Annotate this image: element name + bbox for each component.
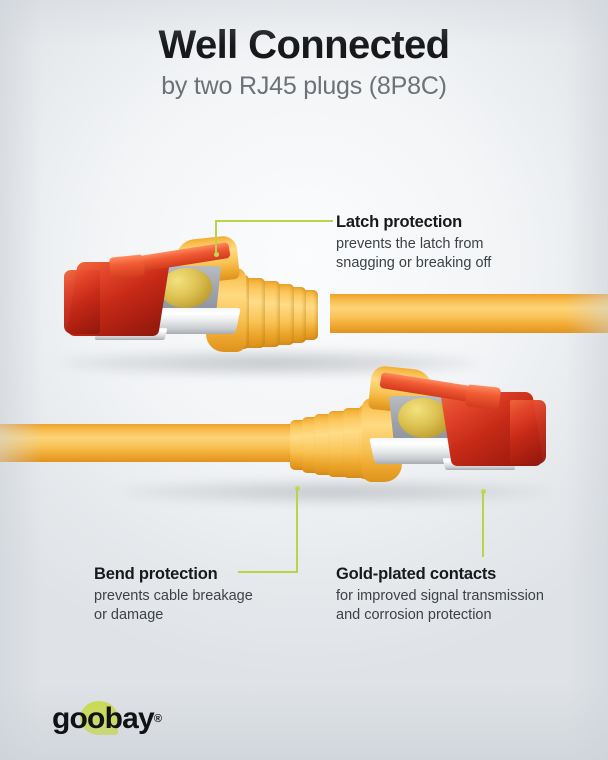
product-infographic: Well Connected by two RJ45 plugs (8P8C) (0, 0, 608, 760)
latch-base-top (109, 254, 145, 279)
callout-body-line-2: and corrosion protection (336, 606, 544, 625)
callout-body-line-1: prevents the latch from (336, 235, 491, 254)
connector-nose-top (64, 270, 100, 334)
callout-body-line-2: or damage (94, 606, 253, 625)
goobay-logo: goobay® (52, 703, 162, 737)
callout-body-line-1: for improved signal transmission (336, 587, 544, 606)
callout-title: Latch protection (336, 211, 491, 233)
bend-line-vertical (296, 488, 298, 572)
header: Well Connected by two RJ45 plugs (8P8C) (0, 22, 608, 102)
callout-latch-protection: Latch protection prevents the latch from… (336, 211, 491, 273)
callout-bend-protection: Bend protection prevents cable breakage … (94, 563, 253, 625)
page-subtitle: by two RJ45 plugs (8P8C) (0, 70, 608, 102)
latch-line-horizontal (215, 220, 333, 222)
product-image (0, 150, 608, 520)
latch-line-vertical (215, 221, 217, 255)
callout-title: Bend protection (94, 563, 253, 585)
latch-base-bottom (465, 384, 501, 409)
gold-line-vertical (482, 491, 484, 557)
cable-jacket-top (330, 294, 608, 333)
callout-title: Gold-plated contacts (336, 563, 544, 585)
callout-body-line-2: snagging or breaking off (336, 254, 491, 273)
page-title: Well Connected (0, 22, 608, 68)
logo-wordmark: goobay (52, 702, 154, 735)
callout-gold-plated-contacts: Gold-plated contacts for improved signal… (336, 563, 544, 625)
cable-jacket-bottom (0, 424, 298, 462)
logo-wrap: goobay® (52, 703, 162, 735)
registered-trademark-icon: ® (154, 713, 162, 725)
callout-body-line-1: prevents cable breakage (94, 587, 253, 606)
connector-nose-bottom (510, 400, 546, 464)
